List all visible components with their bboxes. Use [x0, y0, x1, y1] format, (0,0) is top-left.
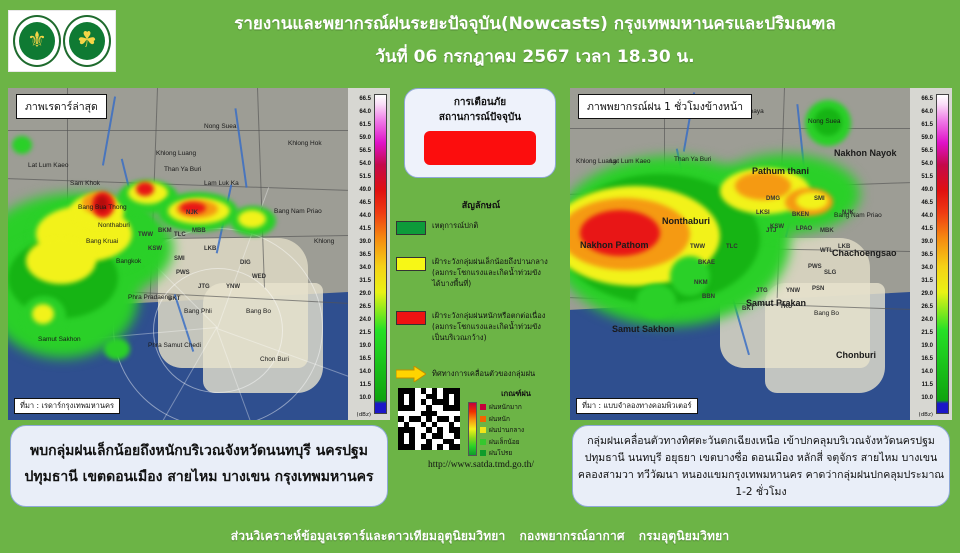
cb-tick: 19.0 — [921, 343, 933, 349]
red-chip-icon — [396, 311, 426, 325]
radar-colorbar: 66.5 64.0 61.5 59.0 56.5 54.0 51.5 49.0 … — [348, 88, 390, 420]
cb-tick: 61.5 — [921, 122, 933, 128]
radar-summary-line2: ปทุมธานี เขตดอนเมือง สายไหม บางเขน กรุงเ… — [11, 464, 387, 490]
radar-summary-line1: พบกลุ่มฝนเล็กน้อยถึงหนักบริเวณจังหวัดนนท… — [11, 438, 387, 464]
green-chip-icon — [396, 221, 426, 235]
cb-tick: 19.0 — [359, 343, 371, 349]
rain-dot-icon — [480, 404, 486, 410]
forecast-summary-line4: 1-2 ชั่วโมง — [573, 484, 949, 501]
rain-gradient-bar — [468, 402, 477, 456]
footer-division: ส่วนวิเคราะห์ข้อมูลเรดาร์และดาวเทียมอุตุ… — [231, 527, 506, 546]
cb-tick: 49.0 — [359, 187, 371, 193]
cb-tick: 64.0 — [359, 109, 371, 115]
forecast-map-source: ที่มา : แบบจำลองทางคอมพิวเตอร์ — [576, 398, 698, 414]
rain-item: ฝนหนักมาก — [480, 402, 524, 412]
cb-tick: 56.5 — [359, 148, 371, 154]
legend-label-watch: เฝ้าระวังกลุ่มฝนเล็กน้อยถึงปานกลาง (ลมกร… — [432, 256, 548, 289]
forecast-map[interactable]: Suphan Buri Phra Nakhon Si Ayutthaya Non… — [570, 88, 910, 420]
legend-label-warning: เฝ้าระวังกลุ่มฝนหนักหรือตกต่อเนื่อง (ลมก… — [432, 310, 545, 343]
page-header: ⚜ ☘ รายงานและพยากรณ์ฝนระยะปัจจุบัน(Nowca… — [0, 0, 960, 84]
cb-tick: 11.5 — [360, 382, 371, 388]
legend-watch-line3: ได้บางพื้นที่) — [432, 279, 471, 288]
cb-tick: 56.5 — [921, 148, 933, 154]
legend-watch-line1: เฝ้าระวังกลุ่มฝนเล็กน้อยถึงปานกลาง — [432, 257, 548, 266]
radar-panel: Nong Suea Khlong Luang Lat Lum Kaeo Than… — [8, 88, 390, 420]
cb-tick: 14.0 — [359, 369, 371, 375]
colorbar-ticks: 66.5 64.0 61.5 59.0 56.5 54.0 51.5 49.0 … — [910, 88, 934, 420]
forecast-summary-line3: คลองสามวา ทวีวัฒนา หนองแขมกรุงเทพมหานคร … — [573, 467, 949, 484]
rain-dot-icon — [480, 450, 486, 456]
forecast-panel: Suphan Buri Phra Nakhon Si Ayutthaya Non… — [570, 88, 952, 420]
tmd-department-emblem-icon: ☘ — [63, 15, 111, 67]
cb-tick: 26.5 — [921, 304, 933, 310]
cb-tick: 44.0 — [921, 213, 933, 219]
rain-label: ฝนปานกลาง — [489, 425, 524, 435]
rain-dot-icon — [480, 439, 486, 445]
rain-label: ฝนโปรย — [489, 448, 512, 458]
page-title: รายงานและพยากรณ์ฝนระยะปัจจุบัน(Nowcasts)… — [120, 10, 950, 38]
page-datetime: วันที่ 06 กรกฎาคม 2567 เวลา 18.30 น. — [120, 44, 950, 70]
radar-map-caption: ภาพเรดาร์ล่าสุด — [16, 94, 107, 119]
rain-threshold-legend: เกณฑ์ฝน ฝนหนักมาก ฝนหนัก ฝนปานกลาง — [468, 388, 564, 458]
cb-tick: 29.0 — [921, 291, 933, 297]
cb-tick: 11.5 — [922, 382, 933, 388]
cb-tick: 54.0 — [921, 161, 933, 167]
rain-threshold-title: เกณฑ์ฝน — [468, 388, 564, 400]
legend-watch-line2: (ลมกระโชกแรงและเกิดน้ำท่วมขัง — [432, 268, 541, 277]
legend-item-normal: เหตุการณ์ปกติ — [396, 220, 566, 235]
cb-tick: 49.0 — [921, 187, 933, 193]
cb-tick: 36.5 — [921, 252, 933, 258]
qr-code[interactable] — [398, 388, 460, 450]
radar-summary-box: พบกลุ่มฝนเล็กน้อยถึงหนักบริเวณจังหวัดนนท… — [10, 425, 388, 507]
forecast-summary-box: กลุ่มฝนเคลื่อนตัวทางทิศตะวันตกเฉียงเหนือ… — [572, 425, 950, 507]
cb-tick: 51.5 — [359, 174, 371, 180]
cb-tick: 39.0 — [921, 239, 933, 245]
colorbar-unit: (dBz) — [357, 412, 371, 418]
rain-dot-icon — [480, 416, 486, 422]
cb-tick: 34.0 — [359, 265, 371, 271]
footer-bureau: กองพยากรณ์อากาศ — [519, 527, 624, 546]
red-alert-swatch — [424, 131, 536, 165]
cb-tick: 36.5 — [359, 252, 371, 258]
rain-item: ฝนเล็กน้อย — [480, 437, 524, 447]
cb-tick: 31.5 — [921, 278, 933, 284]
cb-tick: 61.5 — [359, 122, 371, 128]
website-url[interactable]: http://www.satda.tmd.go.th/ — [396, 460, 566, 470]
yellow-chip-icon — [396, 257, 426, 271]
cb-tick: 26.5 — [359, 304, 371, 310]
cb-tick: 44.0 — [359, 213, 371, 219]
cb-tick: 46.5 — [359, 200, 371, 206]
legend-label-arrow: ทิศทางการเคลื่อนตัวของกลุ่มฝน — [432, 368, 535, 382]
alert-status-box: การเตือนภัย สถานการณ์ปัจจุบัน — [404, 88, 556, 178]
rain-item: ฝนหนัก — [480, 414, 524, 424]
cb-tick: 51.5 — [921, 174, 933, 180]
radar-map[interactable]: Nong Suea Khlong Luang Lat Lum Kaeo Than… — [8, 88, 348, 420]
legend-warning-line3: เป็นบริเวณกว้าง) — [432, 333, 487, 342]
rain-label: ฝนหนักมาก — [489, 402, 522, 412]
cb-tick: 10.0 — [921, 395, 933, 401]
cb-tick: 66.5 — [921, 96, 933, 102]
cb-tick: 41.5 — [921, 226, 933, 232]
rain-label: ฝนเล็กน้อย — [489, 437, 520, 447]
legend-label-normal: เหตุการณ์ปกติ — [432, 220, 478, 235]
cb-tick: 59.0 — [921, 135, 933, 141]
rain-label: ฝนหนัก — [489, 414, 510, 424]
cb-tick: 16.5 — [359, 356, 371, 362]
cb-tick: 41.5 — [359, 226, 371, 232]
cb-tick: 54.0 — [359, 161, 371, 167]
tmd-logo-box: ⚜ ☘ — [8, 10, 116, 72]
radar-map-source: ที่มา : เรดาร์กรุงเทพมหานคร — [14, 398, 120, 414]
cb-tick: 66.5 — [359, 96, 371, 102]
legend-item-arrow: ทิศทางการเคลื่อนตัวของกลุ่มฝน — [396, 366, 566, 382]
cb-tick: 21.5 — [359, 330, 371, 336]
cb-tick: 59.0 — [359, 135, 371, 141]
cb-tick: 10.0 — [359, 395, 371, 401]
forecast-map-caption: ภาพพยากรณ์ฝน 1 ชั่วโมงข้างหน้า — [578, 94, 752, 119]
forecast-summary-line2: ปทุมธานี นนทบุรี อยุธยา เขตบางซื่อ ดอนเม… — [573, 450, 949, 467]
forecast-summary-line1: กลุ่มฝนเคลื่อนตัวทางทิศตะวันตกเฉียงเหนือ… — [573, 433, 949, 450]
nowcast-report-page: ⚜ ☘ รายงานและพยากรณ์ฝนระยะปัจจุบัน(Nowca… — [0, 0, 960, 553]
cb-tick: 64.0 — [921, 109, 933, 115]
cb-tick: 24.0 — [921, 317, 933, 323]
footer-department: กรมอุตุนิยมวิทยา — [639, 527, 730, 546]
cb-tick: 24.0 — [359, 317, 371, 323]
page-footer: ส่วนวิเคราะห์ข้อมูลเรดาร์และดาวเทียมอุตุ… — [0, 519, 960, 553]
cb-tick: 46.5 — [921, 200, 933, 206]
alert-title-line1: การเตือนภัย — [405, 95, 555, 110]
cb-tick: 34.0 — [921, 265, 933, 271]
colorbar-gradient — [936, 94, 949, 414]
legend-warning-line1: เฝ้าระวังกลุ่มฝนหนักหรือตกต่อเนื่อง — [432, 311, 545, 320]
cb-tick: 29.0 — [359, 291, 371, 297]
legend-column: การเตือนภัย สถานการณ์ปัจจุบัน สัญลักษณ์ … — [396, 88, 566, 518]
tmd-garuda-emblem-icon: ⚜ — [13, 15, 61, 67]
cb-tick: 39.0 — [359, 239, 371, 245]
cb-tick: 31.5 — [359, 278, 371, 284]
cb-tick: 16.5 — [921, 356, 933, 362]
rain-item: ฝนโปรย — [480, 448, 524, 458]
colorbar-ticks: 66.5 64.0 61.5 59.0 56.5 54.0 51.5 49.0 … — [348, 88, 372, 420]
colorbar-gradient — [374, 94, 387, 414]
legend-item-watch: เฝ้าระวังกลุ่มฝนเล็กน้อยถึงปานกลาง (ลมกร… — [396, 256, 566, 289]
forecast-colorbar: 66.5 64.0 61.5 59.0 56.5 54.0 51.5 49.0 … — [910, 88, 952, 420]
legend-warning-line2: (ลมกระโชกแรงและเกิดน้ำท่วมขัง — [432, 322, 541, 331]
rain-dot-icon — [480, 427, 486, 433]
cb-tick: 21.5 — [921, 330, 933, 336]
movement-arrow-icon — [396, 366, 426, 382]
rain-item: ฝนปานกลาง — [480, 425, 524, 435]
colorbar-unit: (dBz) — [919, 412, 933, 418]
legend-item-warning: เฝ้าระวังกลุ่มฝนหนักหรือตกต่อเนื่อง (ลมก… — [396, 310, 566, 343]
cb-tick: 14.0 — [921, 369, 933, 375]
alert-title-line2: สถานการณ์ปัจจุบัน — [405, 110, 555, 125]
legend-heading: สัญลักษณ์ — [396, 198, 566, 212]
